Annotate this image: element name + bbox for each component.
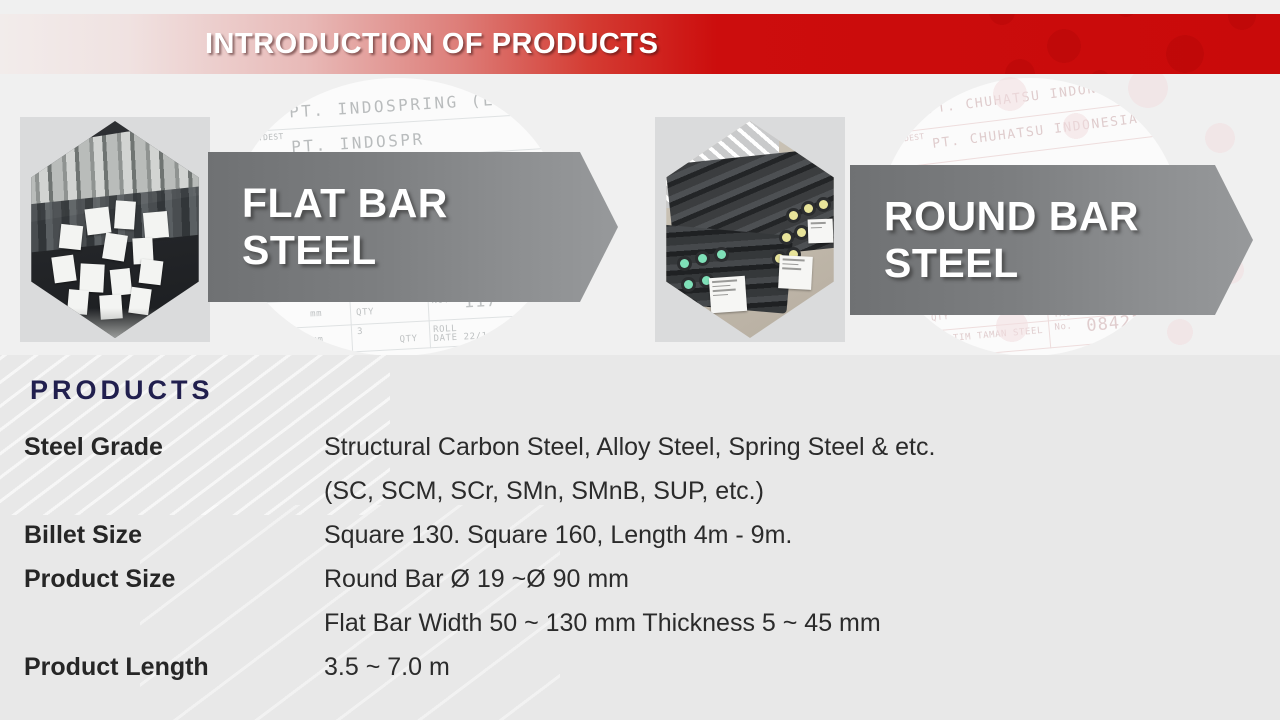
round-bar-image (659, 121, 841, 338)
hexagon-mask (24, 121, 206, 338)
products-heading: PRODUCTS (30, 375, 214, 406)
round-bar-banner-label: ROUND BARSTEEL (850, 193, 1139, 287)
table-row: Steel Grade Structural Carbon Steel, All… (24, 425, 935, 469)
document-row-key: CUSTDEST (240, 97, 281, 109)
hexagon-mask (659, 121, 841, 338)
spec-label: Product Size (24, 557, 324, 601)
spec-label (24, 469, 324, 513)
product-spec-table: Steel Grade Structural Carbon Steel, All… (24, 425, 935, 689)
spec-value: Round Bar Ø 19 ~Ø 90 mm (324, 557, 935, 601)
top-image-band: CUSTDEST PT. INDOSPRING (EXPORT1) DLVYDE… (0, 0, 1280, 355)
document-row-key: CUSTDEST (880, 97, 921, 112)
spec-value: Square 130. Square 160, Length 4m - 9m. (324, 513, 935, 557)
table-row: (SC, SCM, SCr, SMn, SMnB, SUP, etc.) (24, 469, 935, 513)
document-row-key: DLVYDEST (242, 132, 283, 144)
flat-bar-image (24, 121, 206, 338)
spec-value: Flat Bar Width 50 ~ 130 mm Thickness 5 ~… (324, 601, 935, 645)
spec-value: 3.5 ~ 7.0 m (324, 645, 935, 689)
page-title: INTRODUCTION OF PRODUCTS (205, 28, 658, 61)
flat-bar-banner-label: FLAT BARSTEEL (208, 180, 448, 274)
table-row: Product Size Round Bar Ø 19 ~Ø 90 mm (24, 557, 935, 601)
document-row-key: DLVYDEST (883, 132, 925, 147)
round-bar-banner: ROUND BARSTEEL (850, 165, 1253, 315)
table-row: Billet Size Square 130. Square 160, Leng… (24, 513, 935, 557)
table-row: Flat Bar Width 50 ~ 130 mm Thickness 5 ~… (24, 601, 935, 645)
spec-label: Steel Grade (24, 425, 324, 469)
flat-bar-banner: FLAT BARSTEEL (208, 152, 618, 302)
spec-value: Structural Carbon Steel, Alloy Steel, Sp… (324, 425, 935, 469)
spec-value: (SC, SCM, SCr, SMn, SMnB, SUP, etc.) (324, 469, 935, 513)
spec-label: Product Length (24, 645, 324, 689)
slide-root: CUSTDEST PT. INDOSPRING (EXPORT1) DLVYDE… (0, 0, 1280, 720)
header-dot-pattern (980, 14, 1280, 74)
spec-label (24, 601, 324, 645)
table-row: Product Length 3.5 ~ 7.0 m (24, 645, 935, 689)
spec-label: Billet Size (24, 513, 324, 557)
round-bar-photo (655, 117, 845, 342)
flat-bar-photo (20, 117, 210, 342)
